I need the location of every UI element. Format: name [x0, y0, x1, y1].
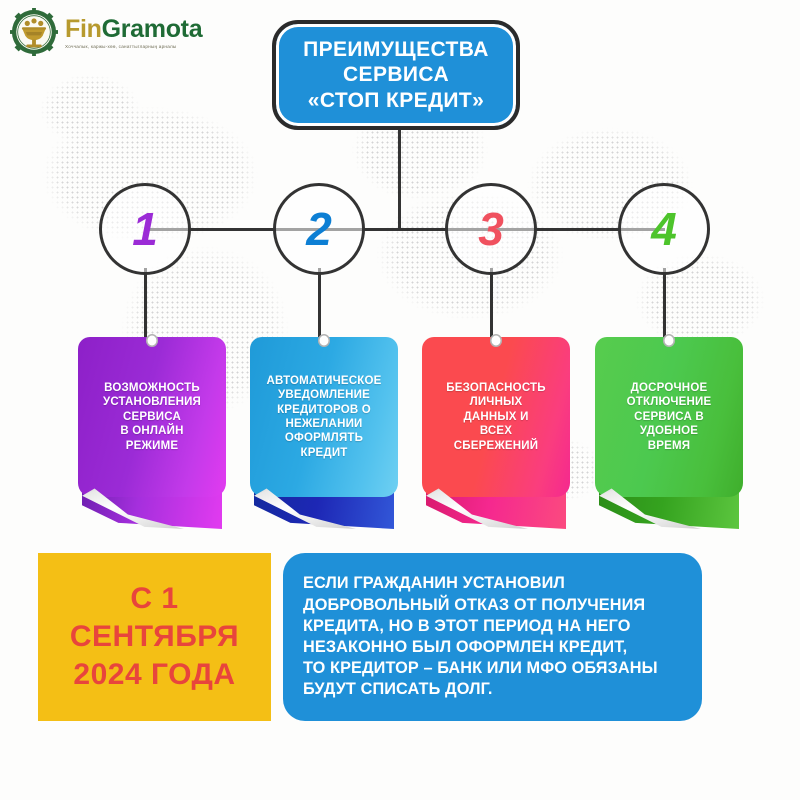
brand-word-gramota: Gramota	[102, 15, 203, 43]
date-line-3: 2024 ГОДА	[70, 656, 239, 694]
headline-line-2: СЕРВИСА	[303, 62, 489, 88]
card-body-4: ДОСРОЧНОЕ ОТКЛЮЧЕНИЕ СЕРВИСА В УДОБНОЕ В…	[595, 337, 743, 497]
benefit-card-3[interactable]: БЕЗОПАСНОСТЬ ЛИЧНЫХ ДАННЫХ И ВСЕХ СБЕРЕЖ…	[422, 337, 570, 529]
card-body-2: АВТОМАТИЧЕСКОЕ УВЕДОМЛЕНИЕ КРЕДИТОРОВ О …	[250, 337, 398, 497]
card-1-line-5: РЕЖИМЕ	[103, 439, 201, 453]
card-2-line-5: ОФОРМЛЯТЬ	[267, 431, 382, 445]
card-2-line-1: АВТОМАТИЧЕСКОЕ	[267, 374, 382, 388]
infographic-canvas: FinGramota Хоччалык, каржы-хөө, санаттыг…	[0, 0, 800, 800]
card-eyelet-2	[318, 334, 330, 347]
card-2-line-4: НЕЖЕЛАНИИ	[267, 417, 382, 431]
card-3-line-1: БЕЗОПАСНОСТЬ	[446, 381, 545, 395]
step-circle-3[interactable]: 3	[445, 183, 537, 275]
card-4-line-1: ДОСРОЧНОЕ	[627, 381, 712, 395]
card-eyelet-1	[146, 334, 158, 347]
card-text-2: АВТОМАТИЧЕСКОЕ УВЕДОМЛЕНИЕ КРЕДИТОРОВ О …	[267, 374, 382, 461]
brand-tagline: Хоччалык, каржы-хөө, санаттыгларның арна…	[65, 45, 202, 50]
card-3-line-5: СБЕРЕЖЕНИЙ	[446, 439, 545, 453]
info-line-4: НЕЗАКОННО БЫЛ ОФОРМЛЕН КРЕДИТ,	[303, 637, 658, 658]
card-text-1: ВОЗМОЖНОСТЬ УСТАНОВЛЕНИЯ СЕРВИСА В ОНЛАЙ…	[103, 381, 201, 453]
brand-wordmark: FinGramota	[65, 17, 202, 42]
benefit-card-4[interactable]: ДОСРОЧНОЕ ОТКЛЮЧЕНИЕ СЕРВИСА В УДОБНОЕ В…	[595, 337, 743, 529]
bowl-coins-emblem-icon	[10, 8, 58, 56]
info-line-5: ТО КРЕДИТОР – БАНК ИЛИ МФО ОБЯЗАНЫ	[303, 658, 658, 679]
card-1-line-1: ВОЗМОЖНОСТЬ	[103, 381, 201, 395]
card-text-3: БЕЗОПАСНОСТЬ ЛИЧНЫХ ДАННЫХ И ВСЕХ СБЕРЕЖ…	[446, 381, 545, 453]
effective-date-box: С 1 СЕНТЯБРЯ 2024 ГОДА	[38, 553, 271, 721]
step-circle-1[interactable]: 1	[99, 183, 191, 275]
connector-bus-horizontal	[145, 228, 665, 231]
info-line-2: ДОБРОВОЛЬНЫЙ ОТКАЗ ОТ ПОЛУЧЕНИЯ	[303, 595, 658, 616]
card-2-line-3: КРЕДИТОРОВ О	[267, 403, 382, 417]
card-text-4: ДОСРОЧНОЕ ОТКЛЮЧЕНИЕ СЕРВИСА В УДОБНОЕ В…	[627, 381, 712, 453]
headline-text: ПРЕИМУЩЕСТВА СЕРВИСА «СТОП КРЕДИТ»	[303, 37, 489, 114]
effective-date-text: С 1 СЕНТЯБРЯ 2024 ГОДА	[70, 580, 239, 693]
card-1-line-3: СЕРВИСА	[103, 410, 201, 424]
headline-box: ПРЕИМУЩЕСТВА СЕРВИСА «СТОП КРЕДИТ»	[272, 20, 520, 130]
step-number-3: 3	[478, 202, 504, 256]
date-line-2: СЕНТЯБРЯ	[70, 618, 239, 656]
card-2-line-6: КРЕДИТ	[267, 446, 382, 460]
step-circle-4[interactable]: 4	[618, 183, 710, 275]
brand-word-fin: Fin	[65, 15, 102, 43]
card-4-line-2: ОТКЛЮЧЕНИЕ	[627, 395, 712, 409]
headline-line-3: «СТОП КРЕДИТ»	[303, 88, 489, 114]
card-4-line-5: ВРЕМЯ	[627, 439, 712, 453]
card-body-3: БЕЗОПАСНОСТЬ ЛИЧНЫХ ДАННЫХ И ВСЕХ СБЕРЕЖ…	[422, 337, 570, 497]
card-3-line-3: ДАННЫХ И	[446, 410, 545, 424]
info-line-6: БУДУТ СПИСАТЬ ДОЛГ.	[303, 679, 658, 700]
info-line-1: ЕСЛИ ГРАЖДАНИН УСТАНОВИЛ	[303, 573, 658, 594]
card-4-line-4: УДОБНОЕ	[627, 424, 712, 438]
benefit-card-1[interactable]: ВОЗМОЖНОСТЬ УСТАНОВЛЕНИЯ СЕРВИСА В ОНЛАЙ…	[78, 337, 226, 529]
step-number-2: 2	[306, 202, 332, 256]
card-1-line-4: В ОНЛАЙН	[103, 424, 201, 438]
card-3-line-4: ВСЕХ	[446, 424, 545, 438]
step-number-4: 4	[651, 202, 677, 256]
step-circle-2[interactable]: 2	[273, 183, 365, 275]
card-eyelet-3	[490, 334, 502, 347]
headline-line-1: ПРЕИМУЩЕСТВА	[303, 37, 489, 63]
card-2-line-2: УВЕДОМЛЕНИЕ	[267, 388, 382, 402]
card-4-line-3: СЕРВИСА В	[627, 410, 712, 424]
explanation-box: ЕСЛИ ГРАЖДАНИН УСТАНОВИЛ ДОБРОВОЛЬНЫЙ ОТ…	[283, 553, 702, 721]
benefit-card-2[interactable]: АВТОМАТИЧЕСКОЕ УВЕДОМЛЕНИЕ КРЕДИТОРОВ О …	[250, 337, 398, 529]
step-number-1: 1	[132, 202, 158, 256]
card-body-1: ВОЗМОЖНОСТЬ УСТАНОВЛЕНИЯ СЕРВИСА В ОНЛАЙ…	[78, 337, 226, 497]
card-eyelet-4	[663, 334, 675, 347]
explanation-text: ЕСЛИ ГРАЖДАНИН УСТАНОВИЛ ДОБРОВОЛЬНЫЙ ОТ…	[303, 573, 658, 700]
connector-stem-vertical	[398, 130, 401, 230]
info-line-3: КРЕДИТА, НО В ЭТОТ ПЕРИОД НА НЕГО	[303, 616, 658, 637]
date-line-1: С 1	[70, 580, 239, 618]
card-1-line-2: УСТАНОВЛЕНИЯ	[103, 395, 201, 409]
card-3-line-2: ЛИЧНЫХ	[446, 395, 545, 409]
brand-logo: FinGramota Хоччалык, каржы-хөө, санаттыг…	[10, 8, 202, 56]
